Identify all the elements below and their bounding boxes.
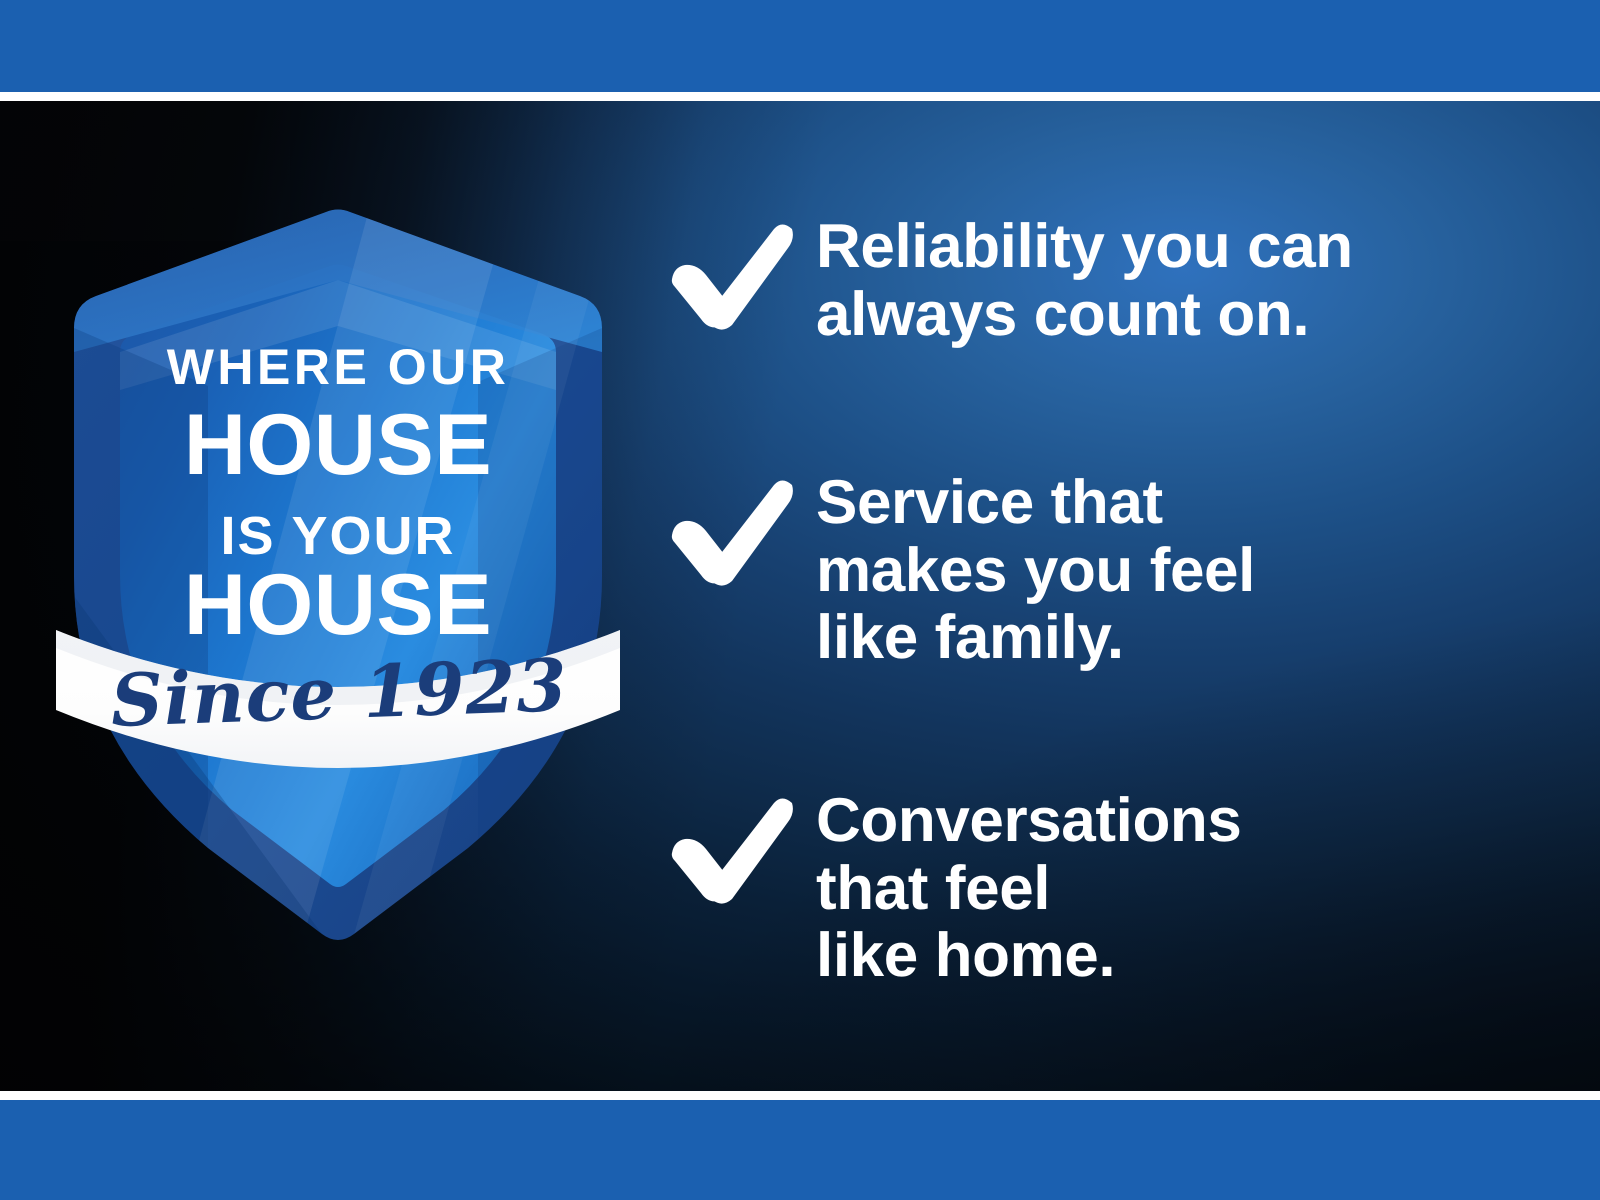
shield-line-1: WHERE OUR [167,339,510,395]
shield-badge: WHERE OUR HOUSE IS YOUR HOUSE Since 1923 [48,176,628,956]
promo-graphic: WHERE OUR HOUSE IS YOUR HOUSE Since 1923 [0,0,1600,1200]
bottom-brand-bar [0,1100,1600,1200]
checkmark-icon [668,787,816,907]
top-brand-bar [0,0,1600,92]
benefit-item-3: Conversations that feel like home. [668,787,1548,990]
shield-line-2: HOUSE [184,397,492,493]
benefit-item-2: Service that makes you feel like family. [668,469,1548,672]
benefit-item-1: Reliability you can always count on. [668,213,1548,348]
ribbon-label: Since 1923 [109,642,569,743]
benefit-text-3: Conversations that feel like home. [816,787,1548,990]
benefit-text-2: Service that makes you feel like family. [816,469,1548,672]
benefit-text-1: Reliability you can always count on. [816,213,1548,348]
benefits-list: Reliability you can always count on. Ser… [668,101,1548,1091]
checkmark-icon [668,213,816,333]
shield-line-4: HOUSE [184,557,492,653]
checkmark-icon [668,469,816,589]
